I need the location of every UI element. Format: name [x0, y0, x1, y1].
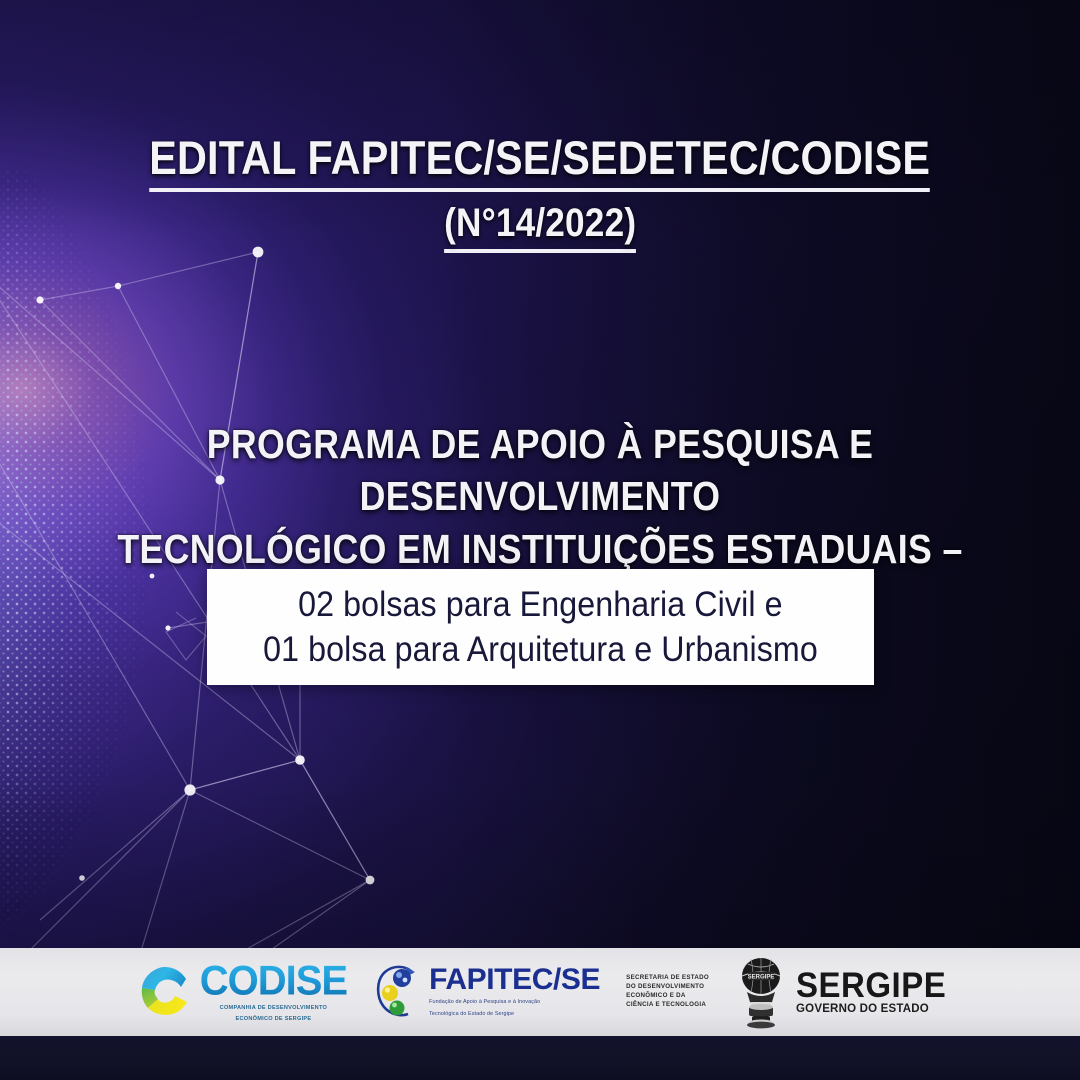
sedetec-line4: CIÊNCIA E TECNOLOGIA	[626, 1001, 706, 1010]
bottom-dark-strip	[0, 1036, 1080, 1080]
fapitec-wordmark: FAPITEC/SE Fundação de Apoio à Pesquisa …	[429, 965, 600, 1018]
codise-tagline-line2: ECONÔMICO DE SERGIPE	[200, 1015, 347, 1023]
logo-codise: CODISE COMPANHIA DE DESENVOLVIMENTO ECON…	[134, 961, 347, 1023]
edital-title-line1: EDITAL FAPITEC/SE/SEDETEC/CODISE	[150, 133, 931, 192]
sedetec-line1: SECRETARIA DE ESTADO	[626, 974, 709, 983]
sedetec-line2: DO DESENVOLVIMENTO	[626, 983, 704, 992]
edital-title-line2: (N°14/2022)	[444, 202, 636, 253]
sedetec-line3: ECONÔMICO E DA	[626, 992, 686, 1001]
footer-logo-bar: CODISE COMPANHIA DE DESENVOLVIMENTO ECON…	[0, 948, 1080, 1036]
sergipe-tagline: GOVERNO DO ESTADO	[796, 1004, 946, 1016]
program-heading-line1: PROGRAMA DE APOIO À PESQUISA E DESENVOLV…	[70, 418, 1010, 523]
callout-line-engenharia-civil: 02 bolsas para Engenharia Civil e	[298, 582, 783, 628]
logo-sedetec-text: SECRETARIA DE ESTADO DO DESENVOLVIMENTO …	[626, 974, 709, 1010]
sergipe-coat-of-arms-icon: SERGIPE	[735, 954, 787, 1030]
scholarships-callout-box: 02 bolsas para Engenharia Civil e 01 bol…	[207, 569, 874, 685]
logo-fapitec: FAPITEC/SE Fundação de Apoio à Pesquisa …	[373, 961, 600, 1023]
codise-c-logo-icon	[134, 963, 194, 1021]
fapitec-tagline-line1: Fundação de Apoio à Pesquisa e à Inovaçã…	[429, 998, 600, 1007]
edital-title-block: EDITAL FAPITEC/SE/SEDETEC/CODISE (N°14/2…	[0, 133, 1080, 253]
callout-line-arquitetura-urbanismo: 01 bolsa para Arquitetura e Urbanismo	[263, 627, 818, 673]
svg-text:SERGIPE: SERGIPE	[748, 975, 775, 981]
sergipe-name: SERGIPE	[796, 967, 946, 1003]
fapitec-name: FAPITEC/SE	[429, 965, 600, 995]
sergipe-wordmark: SERGIPE GOVERNO DO ESTADO	[796, 968, 946, 1016]
poster-canvas: EDITAL FAPITEC/SE/SEDETEC/CODISE (N°14/2…	[0, 0, 1080, 1080]
codise-wordmark: CODISE COMPANHIA DE DESENVOLVIMENTO ECON…	[200, 961, 347, 1023]
codise-tagline-line1: COMPANHIA DE DESENVOLVIMENTO	[200, 1004, 347, 1012]
codise-name: CODISE	[200, 960, 347, 1002]
fapitec-circle-logo-icon	[373, 961, 425, 1023]
fapitec-tagline-line2: Tecnológica do Estado de Sergipe	[429, 1010, 600, 1019]
logo-sergipe: SERGIPE SERGIPE GOVERNO DO ESTADO	[735, 954, 946, 1030]
